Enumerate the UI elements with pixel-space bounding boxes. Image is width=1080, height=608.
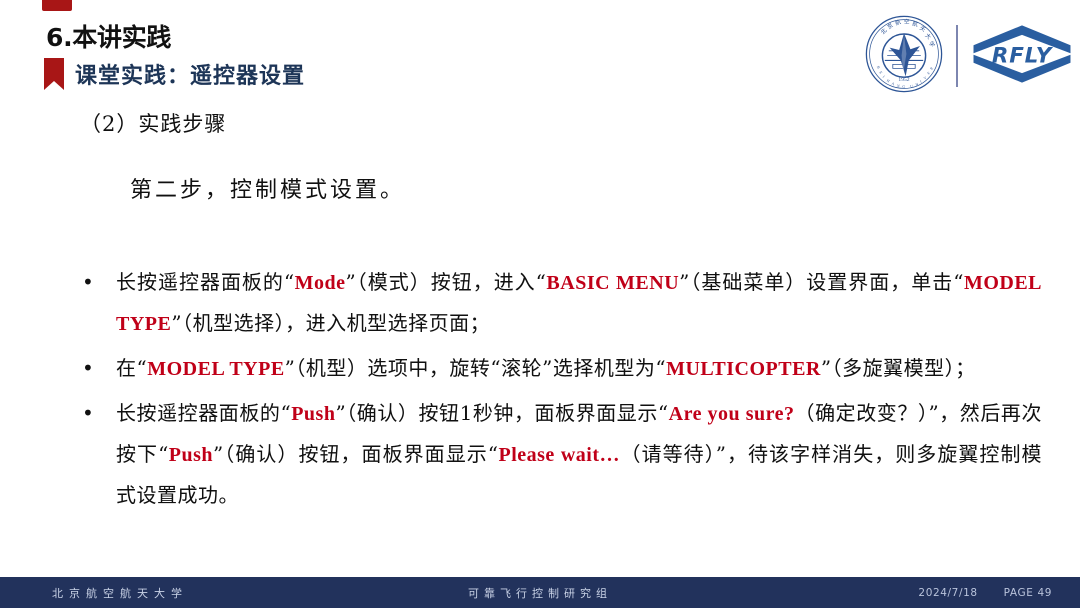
svg-text:U: U [910, 84, 914, 88]
logo-group: 1952 北 京 航 空 航 天 大 学 B E I H A N G U N [864, 14, 1074, 98]
bullet-text: 长按遥控器面板的“Mode”（模式）按钮，进入“BASIC MENU”（基础菜单… [116, 262, 1042, 344]
bullet-marker-icon: • [82, 348, 116, 388]
bullet-item: •长按遥控器面板的“Push”（确认）按钮1秒钟，面板界面显示“Are you … [82, 393, 1042, 515]
svg-text:航: 航 [912, 19, 920, 28]
buaa-seal-logo: 1952 北 京 航 空 航 天 大 学 B E I H A N G U N [864, 14, 944, 99]
section-label: （2）实践步骤 [80, 108, 226, 138]
bullet-text-run: ”（机型）选项中，旋转“滚轮”选择机型为“ [285, 356, 666, 380]
svg-text:E: E [878, 70, 883, 75]
footer-university: 北京航空航天大学 [52, 585, 188, 601]
highlighted-term: Mode [295, 272, 346, 294]
subtitle-row: 课堂实践：遥控器设置 [44, 58, 305, 90]
svg-text:I: I [882, 74, 886, 78]
highlighted-term: MODEL TYPE [147, 358, 284, 380]
page-title: 6.本讲实践 [46, 18, 171, 54]
bullet-marker-icon: • [82, 393, 116, 433]
bullet-marker-icon: • [82, 262, 116, 302]
svg-text:E: E [927, 70, 932, 75]
svg-text:天: 天 [918, 24, 927, 33]
rfly-logo: RFLY [970, 23, 1074, 90]
footer-bar: 北京航空航天大学 可靠飞行控制研究组 2024/7/18 PAGE 49 [0, 577, 1080, 608]
highlighted-term: Push [169, 444, 213, 466]
svg-text:RFLY: RFLY [992, 43, 1054, 68]
highlighted-term: Push [291, 403, 335, 425]
bullet-list: •长按遥控器面板的“Mode”（模式）按钮，进入“BASIC MENU”（基础菜… [82, 262, 1042, 519]
bullet-text: 长按遥控器面板的“Push”（确认）按钮1秒钟，面板界面显示“Are you s… [116, 393, 1042, 515]
bullet-text-run: ”（机型选择），进入机型选择页面； [171, 311, 490, 335]
footer-date: 2024/7/18 [918, 587, 977, 599]
bullet-text-run: ”（多旋翼模型）； [821, 356, 976, 380]
step-label: 第二步，控制模式设置。 [130, 172, 405, 204]
bullet-text-run: ”（基础菜单）设置界面，单击“ [679, 270, 964, 294]
footer-lab: 可靠飞行控制研究组 [468, 585, 612, 601]
subtitle-text: 课堂实践：遥控器设置 [75, 58, 305, 90]
svg-text:N: N [897, 83, 901, 88]
svg-text:R: R [929, 65, 934, 70]
bullet-text-run: ”（模式）按钮，进入“ [346, 270, 547, 294]
svg-text:1952: 1952 [898, 77, 909, 83]
bullet-item: •长按遥控器面板的“Mode”（模式）按钮，进入“BASIC MENU”（基础菜… [82, 262, 1042, 344]
logo-divider [956, 25, 958, 87]
svg-text:航: 航 [894, 17, 902, 27]
svg-text:大: 大 [923, 31, 933, 41]
highlighted-term: BASIC MENU [546, 272, 679, 294]
footer-page: PAGE 49 [1004, 587, 1052, 599]
svg-text:N: N [915, 82, 919, 87]
bullet-text-run: 长按遥控器面板的“ [116, 401, 291, 425]
highlighted-term: Are you sure? [669, 403, 795, 425]
bullet-text-run: ”（确认）按钮1秒钟，面板界面显示“ [335, 401, 668, 425]
svg-text:空: 空 [904, 17, 911, 25]
bullet-item: •在“MODEL TYPE”（机型）选项中，旋转“滚轮”选择机型为“MULTIC… [82, 348, 1042, 389]
highlighted-term: MULTICOPTER [666, 358, 821, 380]
top-red-tab [42, 0, 72, 11]
svg-text:H: H [886, 78, 891, 83]
svg-text:B: B [876, 65, 881, 70]
bullet-text-run: 在“ [116, 356, 147, 380]
footer-meta: 2024/7/18 PAGE 49 [918, 587, 1052, 599]
bullet-text-run: ”（确认）按钮，面板界面显示“ [213, 442, 498, 466]
bullet-text: 在“MODEL TYPE”（机型）选项中，旋转“滚轮”选择机型为“MULTICO… [116, 348, 1042, 389]
red-bookmark-flag-icon [44, 58, 64, 90]
highlighted-term: Please wait… [499, 444, 621, 466]
bullet-text-run: 长按遥控器面板的“ [116, 270, 295, 294]
